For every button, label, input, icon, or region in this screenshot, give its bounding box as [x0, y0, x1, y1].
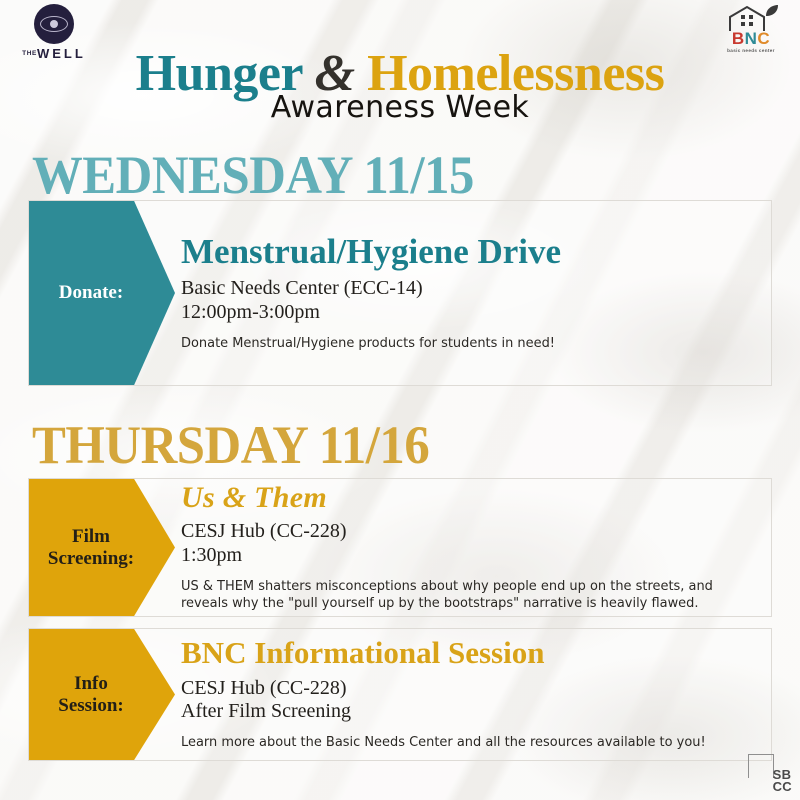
event-time: 12:00pm-3:00pm [181, 301, 757, 325]
event-tag-line1: Film [72, 526, 110, 547]
house-icon-svg [720, 4, 782, 32]
event-location: CESJ Hub (CC-228) [181, 677, 757, 701]
event-body: BNC Informational Session CESJ Hub (CC-2… [181, 629, 757, 760]
event-card-menstrual-hygiene-drive: Donate: Menstrual/Hygiene Drive Basic Ne… [28, 200, 772, 386]
poster-subtitle: Awareness Week [0, 90, 800, 125]
event-tag-label: Donate: [59, 282, 123, 303]
event-tag-label: InfoSession: [58, 673, 123, 716]
event-title: Menstrual/Hygiene Drive [181, 234, 757, 271]
event-tag-info-session: InfoSession: [29, 629, 175, 760]
sbcc-logo: SBCC [748, 754, 792, 794]
event-description: Learn more about the Basic Needs Center … [181, 734, 734, 752]
event-location: Basic Needs Center (ECC-14) [181, 277, 757, 301]
event-meta: Basic Needs Center (ECC-14) 12:00pm-3:00… [181, 277, 757, 324]
sbcc-bracket-icon [748, 754, 774, 778]
event-card-bnc-informational-session: InfoSession: BNC Informational Session C… [28, 628, 772, 761]
poster-title-block: Hunger & Homelessness Awareness Week [0, 48, 800, 125]
sbcc-line2: CC [773, 779, 792, 794]
event-time: After Film Screening [181, 700, 757, 724]
house-leaf-icon [720, 4, 782, 32]
event-title: BNC Informational Session [181, 637, 757, 670]
event-tag-line2: Screening: [48, 548, 134, 569]
sbcc-wordmark: SBCC [773, 769, 792, 794]
bnc-wordmark: BNC [712, 30, 790, 47]
event-tag-line1: Info [74, 673, 108, 694]
event-location: CESJ Hub (CC-228) [181, 520, 757, 544]
event-tag-label: FilmScreening: [48, 526, 134, 569]
event-tag-line2: Session: [58, 695, 123, 716]
event-description: US & THEM shatters misconceptions about … [181, 578, 734, 614]
event-title: Us & Them [181, 482, 757, 514]
event-body: Menstrual/Hygiene Drive Basic Needs Cent… [181, 201, 757, 385]
event-body: Us & Them CESJ Hub (CC-228) 1:30pm US & … [181, 479, 757, 616]
event-card-us-and-them-film: FilmScreening: Us & Them CESJ Hub (CC-22… [28, 478, 772, 617]
the-well-emblem-icon [34, 4, 74, 44]
event-meta: CESJ Hub (CC-228) After Film Screening [181, 677, 757, 724]
event-tag-donate: Donate: [29, 201, 175, 385]
poster-canvas: THEWELL BNC basic needs center Hunger & … [0, 0, 800, 800]
event-meta: CESJ Hub (CC-228) 1:30pm [181, 520, 757, 567]
event-time: 1:30pm [181, 544, 757, 568]
day-heading-wednesday: WEDNESDAY 11/15 [32, 148, 474, 202]
day-heading-thursday: THURSDAY 11/16 [32, 418, 429, 472]
event-description: Donate Menstrual/Hygiene products for st… [181, 335, 734, 353]
event-tag-film-screening: FilmScreening: [29, 479, 175, 616]
